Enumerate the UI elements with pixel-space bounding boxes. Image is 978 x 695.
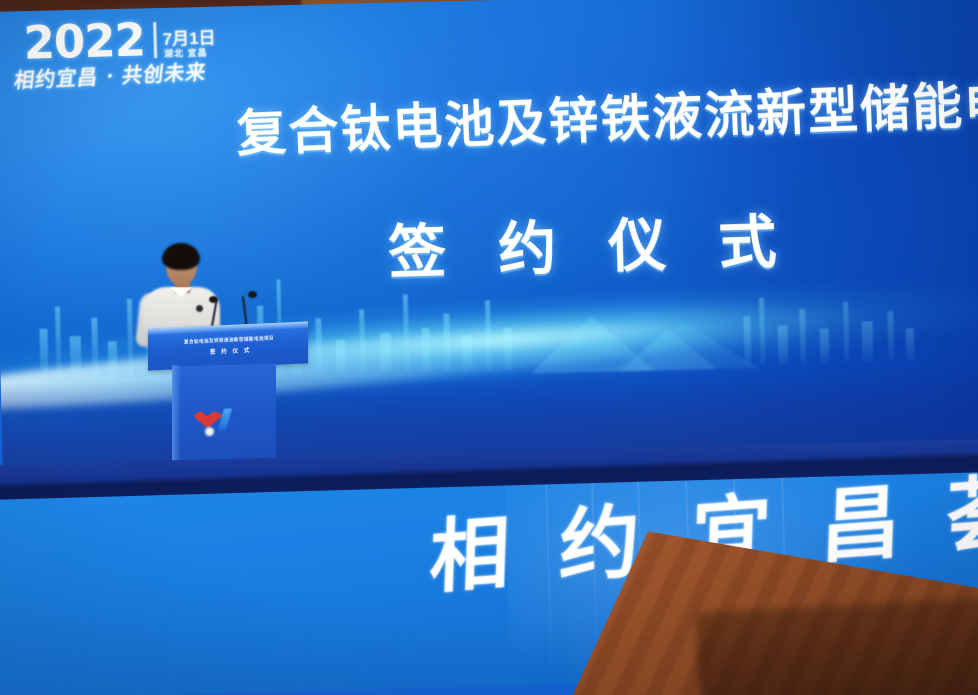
logo-divider [153,22,157,58]
calligraphy-char: 昌 [819,482,902,568]
stage-photo-scene: 2022 7月1日 湖北 宜昌 相约宜昌 · 共创未来 复合钛电池及锌铁液流新型… [0,0,978,695]
microphone-head-icon [209,296,218,303]
emblem-dot-icon [205,427,214,436]
event-logo: 2022 7月1日 湖北 宜昌 相约宜昌 · 共创未来 [7,11,239,95]
podium-emblem [193,406,233,441]
calligraphy-char: 相 [428,512,511,598]
carpet-shadow [695,597,978,695]
calligraphy-char: 荟 [945,471,978,557]
speaker-badge [196,305,203,312]
microphone-head-icon [248,291,257,298]
led-right-vignette [646,0,978,476]
blue-swoosh-icon [218,408,232,429]
calligraphy-char: 约 [558,501,641,587]
speaker-hair [162,243,200,270]
